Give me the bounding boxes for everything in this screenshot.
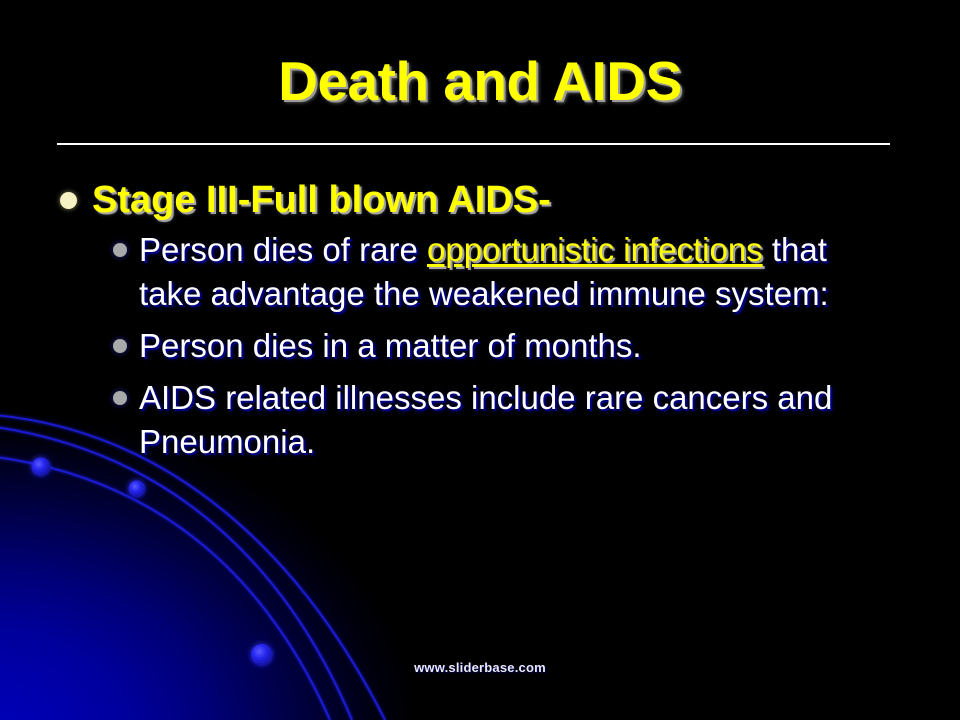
slide-canvas: Death and AIDS Stage III-Full blown AIDS… <box>0 0 960 720</box>
slide-body: Stage III-Full blown AIDS- Person dies o… <box>0 178 960 471</box>
bullet-disc-gray-icon <box>113 339 127 353</box>
title-divider-rule <box>57 143 890 145</box>
opportunistic-infections-link[interactable]: opportunistic infections <box>427 231 763 268</box>
bullet-text-level2: Person dies of rare opportunistic infect… <box>139 228 870 316</box>
bullet-disc-gray-icon <box>113 391 127 405</box>
footer-watermark: www.sliderbase.com <box>0 660 960 675</box>
bullet-disc-gray-icon <box>113 243 127 257</box>
bullet-text-level2: Person dies in a matter of months. <box>139 324 642 368</box>
bullet-text-level1: Stage III-Full blown AIDS- <box>92 178 551 222</box>
bullet-disc-cream-icon <box>60 192 77 209</box>
list-item: Stage III-Full blown AIDS- <box>0 178 960 222</box>
list-item: AIDS related illnesses include rare canc… <box>0 376 960 464</box>
arc-dots <box>32 458 274 667</box>
list-item: Person dies of rare opportunistic infect… <box>0 228 960 316</box>
bullet-text-segment-before: Person dies of rare <box>139 231 427 268</box>
bullet-text-level2: AIDS related illnesses include rare canc… <box>139 376 870 464</box>
slide-title: Death and AIDS <box>0 54 960 109</box>
list-item: Person dies in a matter of months. <box>0 324 960 368</box>
